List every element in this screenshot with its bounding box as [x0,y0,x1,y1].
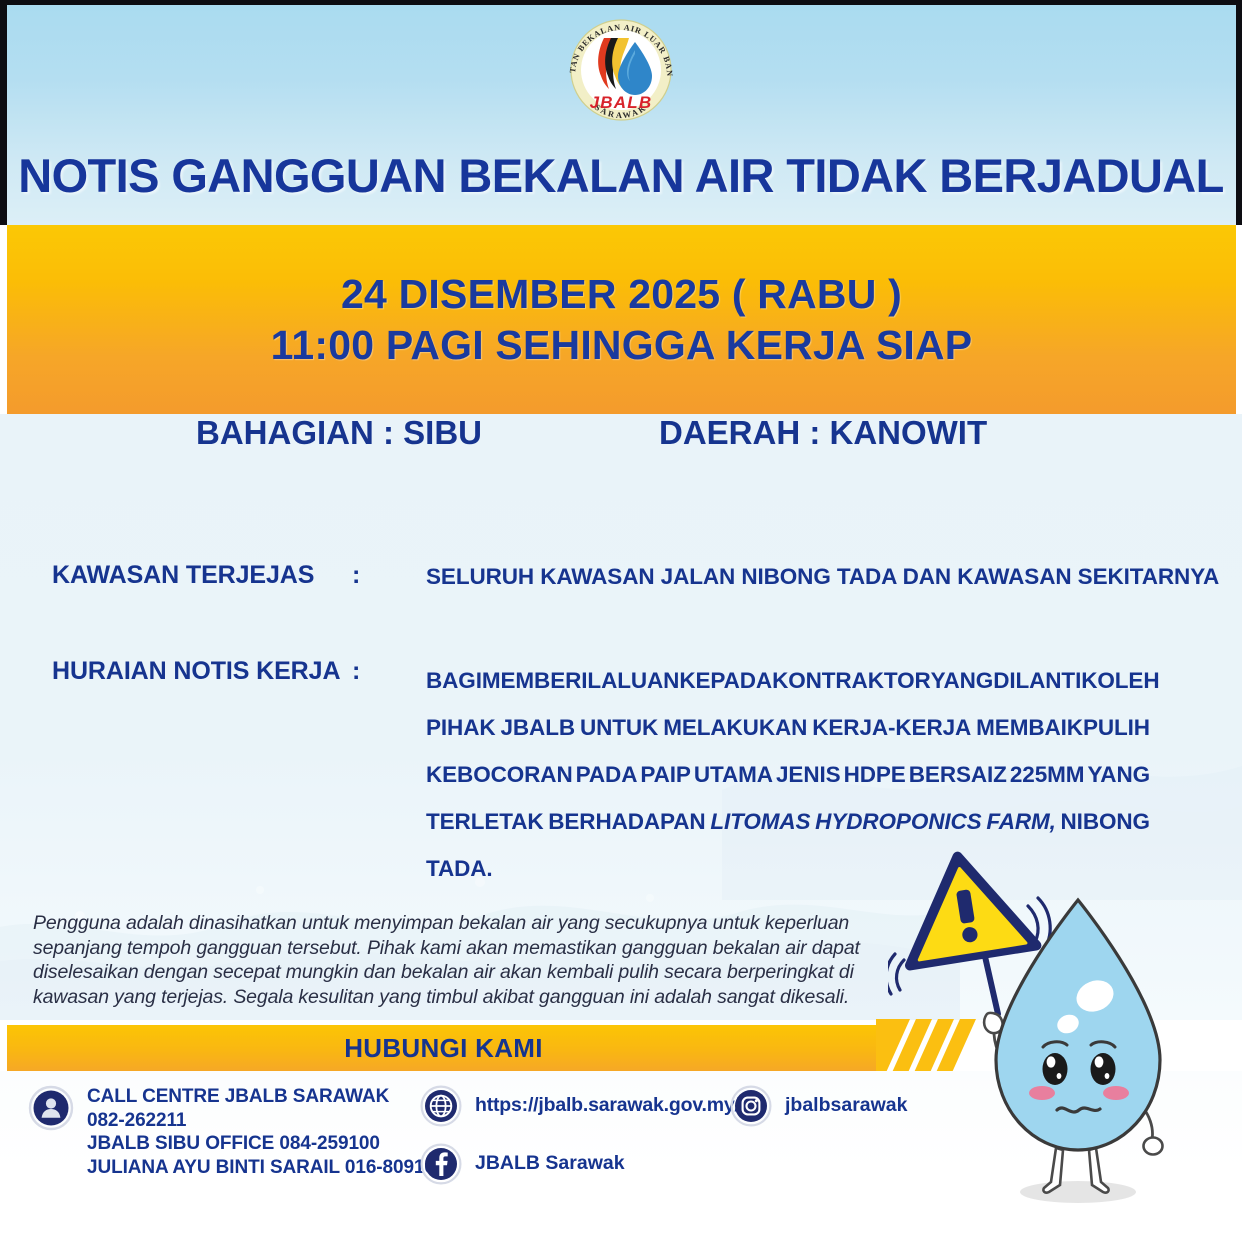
instagram-handle[interactable]: jbalbsarawak [785,1085,907,1125]
notice-poster: JABATAN BEKALAN AIR LUAR BANDAR SARAWAK … [0,0,1242,1234]
desc-line-2: PIHAK JBALB UNTUK MELAKUKAN KERJA-KERJA … [426,704,1150,751]
call-centre-text: CALL CENTRE JBALB SARAWAK 082-262211 JBA… [87,1085,456,1179]
affected-area-value: SELURUH KAWASAN JALAN NIBONG TADA DAN KA… [426,564,1166,590]
contact-banner-title: HUBUNGI KAMI [344,1033,543,1064]
globe-icon [420,1085,462,1132]
district-label: DAERAH : KANOWIT [659,414,987,452]
contact-facebook[interactable]: JBALB Sarawak [420,1143,625,1190]
frame-edge-left [0,0,7,225]
contact-instagram[interactable]: jbalbsarawak [730,1085,907,1132]
desc-line-4: TERLETAK BERHADAPAN LITOMAS HYDROPONICS … [426,798,1150,845]
facebook-page[interactable]: JBALB Sarawak [475,1143,625,1183]
jbalb-logo: JABATAN BEKALAN AIR LUAR BANDAR SARAWAK … [557,16,685,124]
desc-line-5: TADA. [426,845,1150,892]
jbalb-logo-icon: JABATAN BEKALAN AIR LUAR BANDAR SARAWAK … [557,16,685,124]
division-label: BAHAGIAN : SIBU [196,414,482,452]
contact-call-centre[interactable]: CALL CENTRE JBALB SARAWAK 082-262211 JBA… [28,1085,456,1179]
page-title: NOTIS GANGGUAN BEKALAN AIR TIDAK BERJADU… [0,148,1242,203]
body-section: BAHAGIAN : SIBU DAERAH : KANOWIT KAWASAN… [0,414,1242,1020]
officer-contact: JULIANA AYU BINTI SARAIL 016-8091659 [87,1156,456,1180]
affected-area-colon: : [352,561,360,590]
desc-line-3: KEBOCORAN PADA PAIP UTAMA JENIS HDPE BER… [426,751,1150,798]
advisory-paragraph: Pengguna adalah dinasihatkan untuk menyi… [33,911,883,1009]
user-icon [28,1085,74,1136]
website-url[interactable]: https://jbalb.sarawak.gov.my/ [475,1085,740,1125]
frame-edge-right [1236,0,1242,225]
sibu-office-number: JBALB SIBU OFFICE 084-259100 [87,1132,456,1156]
work-description-colon: : [352,657,360,686]
notice-time: 11:00 PAGI SEHINGGA KERJA SIAP [271,322,973,369]
facebook-icon [420,1143,462,1190]
call-centre-name: CALL CENTRE JBALB SARAWAK [87,1085,456,1109]
desc-line-1: BAGI MEMBERI LALUAN KEPADA KONTRAKTOR YA… [426,657,1150,704]
header-section: JABATAN BEKALAN AIR LUAR BANDAR SARAWAK … [0,0,1242,225]
date-time-banner: 24 DISEMBER 2025 ( RABU ) 11:00 PAGI SEH… [7,225,1236,414]
notice-date: 24 DISEMBER 2025 ( RABU ) [341,271,902,318]
contact-banner: HUBUNGI KAMI [7,1025,880,1071]
call-centre-number: 082-262211 [87,1109,456,1133]
work-description-value: BAGI MEMBERI LALUAN KEPADA KONTRAKTOR YA… [426,657,1150,892]
affected-area-label: KAWASAN TERJEJAS [52,561,314,590]
frame-edge-top [0,0,1242,5]
svg-text:JBALB: JBALB [590,93,653,112]
work-description-label: HURAIAN NOTIS KERJA [52,657,340,686]
diagonal-slash-decoration [876,1019,1006,1077]
contact-details-section: CALL CENTRE JBALB SARAWAK 082-262211 JBA… [0,1071,1242,1234]
contact-website[interactable]: https://jbalb.sarawak.gov.my/ [420,1085,740,1132]
instagram-icon [730,1085,772,1132]
